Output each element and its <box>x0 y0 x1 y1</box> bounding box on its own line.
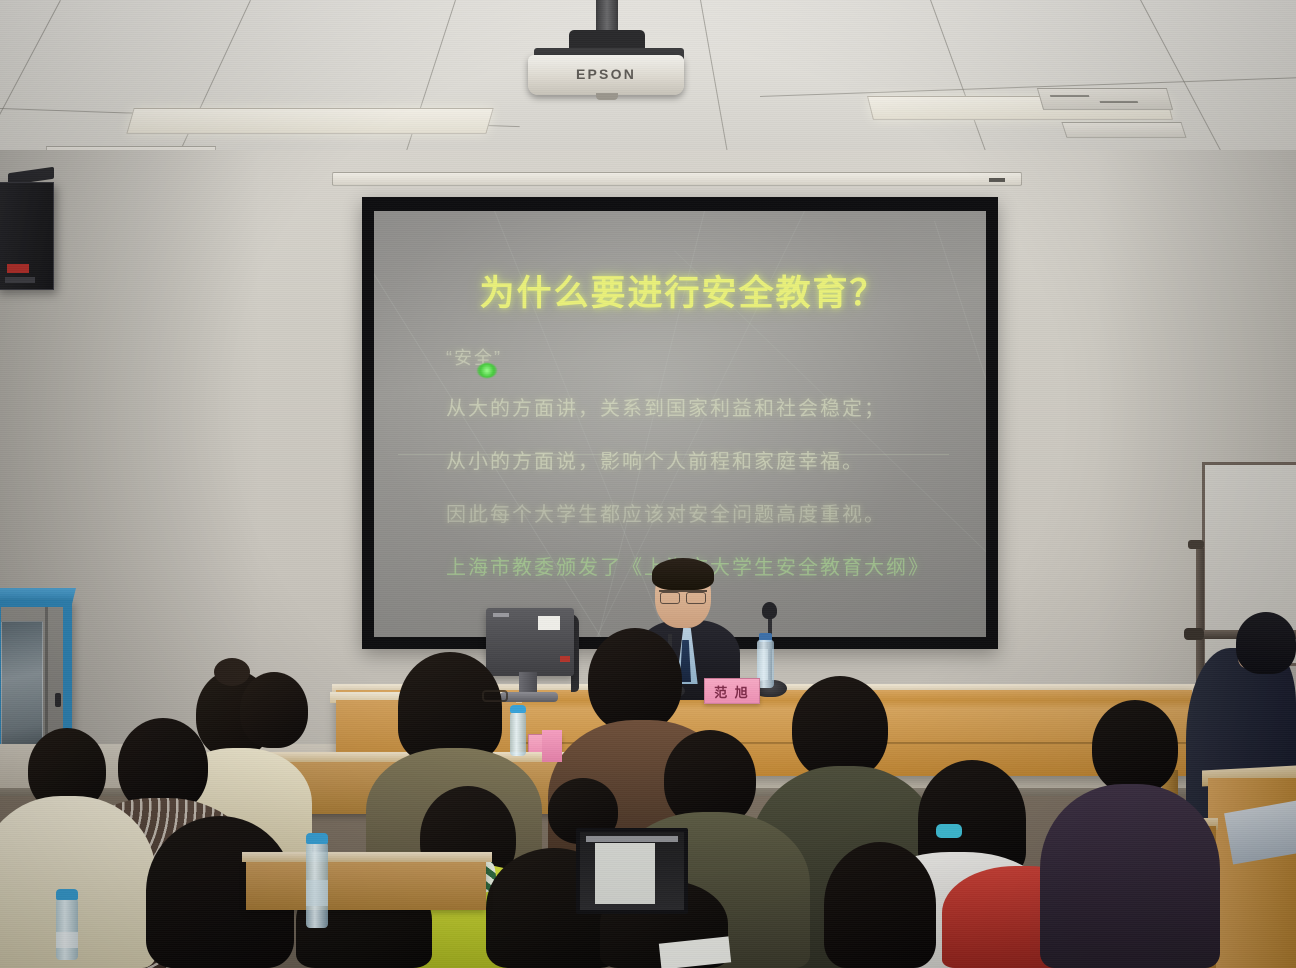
bottle-cap <box>56 889 78 900</box>
slide-title: 为什么要进行安全教育？ <box>446 265 944 316</box>
wall-speaker-grille <box>5 277 35 283</box>
pink-note <box>542 730 562 762</box>
student-desk <box>246 860 486 910</box>
bottle-label <box>56 932 78 948</box>
slide-line-3: 从小的方面说，影响个人前程和家庭幸福。 <box>446 445 944 474</box>
projector-brand-label: EPSON <box>528 66 684 82</box>
nameplate-presenter: 范 旭 <box>704 678 760 704</box>
whiteboard-clip <box>1188 540 1204 549</box>
slide-line-2: 从大的方面讲，关系到国家利益和社会稳定； <box>446 392 944 421</box>
bottle-label <box>306 880 328 906</box>
glasses-icon <box>659 590 707 601</box>
laptop-document-page <box>595 843 655 904</box>
glasses-icon <box>482 690 508 702</box>
water-bottle <box>56 898 78 960</box>
wall-speaker <box>0 182 54 290</box>
whiteboard-tray-bracket <box>1184 628 1204 640</box>
student-desk-top <box>242 852 492 862</box>
display-case-latch <box>55 693 61 707</box>
screen-roller-knob <box>989 178 1005 182</box>
water-bottle <box>510 712 526 756</box>
laptop-toolbar <box>586 836 678 842</box>
bottle-cap <box>510 705 526 713</box>
monitor-brand-mark <box>493 613 509 617</box>
slide-line-1: “安全” <box>446 344 944 370</box>
projector-lens-housing <box>596 93 618 100</box>
ceiling-vent <box>1037 88 1173 110</box>
ceiling-projector: EPSON <box>528 55 684 95</box>
ceiling-vent <box>1061 122 1186 138</box>
ceiling-light-panel <box>126 108 493 134</box>
microphone-head <box>762 602 777 619</box>
laser-pointer-dot <box>477 363 497 378</box>
water-bottle <box>306 842 328 928</box>
monitor-asset-label <box>538 616 560 630</box>
bottle-cap <box>306 833 328 844</box>
slide-line-4: 因此每个大学生都应该对安全问题高度重视。 <box>446 498 944 527</box>
student-laptop[interactable] <box>576 828 688 914</box>
presenter-hair <box>652 558 714 590</box>
monitor-red-sticker <box>560 656 570 662</box>
seated-official-head <box>1236 612 1296 674</box>
monitor-stand-base <box>500 692 558 702</box>
projection-screen-housing <box>332 172 1022 186</box>
hair-tie <box>936 824 962 838</box>
display-case-poster <box>1 621 43 761</box>
classroom-photo: EPSON 为什么要进行安全教育？ <box>0 0 1296 968</box>
desktop-monitor[interactable] <box>486 608 574 676</box>
wall-speaker-logo <box>7 264 29 273</box>
